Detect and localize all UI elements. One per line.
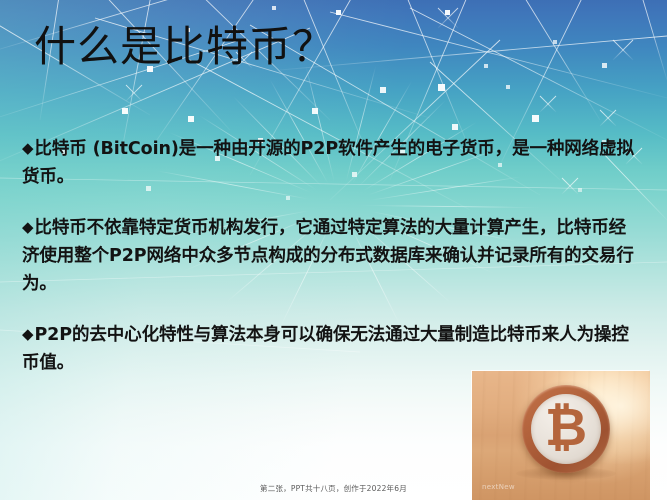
bitcoin-coin-icon: ₿ bbox=[522, 385, 610, 473]
bullet-list: ◆比特币 (BitCoin)是一种由开源的P2P软件产生的电子货币，是一种网络虚… bbox=[22, 134, 642, 377]
diamond-bullet-icon: ◆ bbox=[22, 139, 33, 157]
slide-footer: 第二张，PPT共十八页，创作于2022年6月 bbox=[0, 483, 667, 494]
diamond-bullet-icon: ◆ bbox=[22, 218, 33, 236]
bullet-item-1: ◆比特币 (BitCoin)是一种由开源的P2P软件产生的电子货币，是一种网络虚… bbox=[22, 134, 642, 191]
slide-canvas: 什么是比特币？ ◆比特币 (BitCoin)是一种由开源的P2P软件产生的电子货… bbox=[0, 0, 667, 500]
page-title: 什么是比特币？ bbox=[34, 22, 335, 72]
coin-face: ₿ bbox=[531, 394, 601, 464]
diamond-bullet-icon: ◆ bbox=[22, 325, 33, 343]
bullet-text-2: 比特币不依靠特定货币机构发行，它通过特定算法的大量计算产生，比特币经济使用整个P… bbox=[22, 218, 634, 294]
bitcoin-photo: ₿ nextNew bbox=[472, 371, 650, 500]
bullet-text-1: 比特币 (BitCoin)是一种由开源的P2P软件产生的电子货币，是一种网络虚拟… bbox=[22, 139, 634, 187]
bullet-text-3: P2P的去中心化特性与算法本身可以确保无法通过大量制造比特币来人为操控币值。 bbox=[22, 325, 629, 373]
bitcoin-symbol: ₿ bbox=[531, 394, 601, 464]
bullet-item-3: ◆P2P的去中心化特性与算法本身可以确保无法通过大量制造比特币来人为操控币值。 bbox=[22, 320, 642, 377]
bullet-item-2: ◆比特币不依靠特定货币机构发行，它通过特定算法的大量计算产生，比特币经济使用整个… bbox=[22, 213, 642, 298]
